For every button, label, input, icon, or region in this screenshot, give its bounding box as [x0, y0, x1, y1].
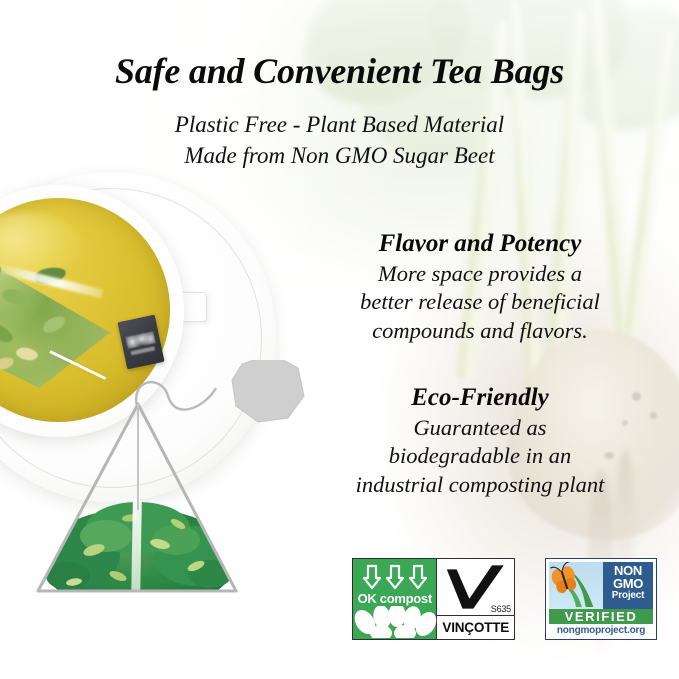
feature-eco-friendly: Eco-Friendly Guaranteed as biodegradable… [286, 384, 674, 499]
feature-body-line-2: biodegradable in an [286, 442, 674, 470]
teabag-string-illustration [136, 382, 216, 410]
feature-flavor-and-potency: Flavor and Potency More space provides a… [286, 230, 674, 345]
ok-compost-label: OK compost [358, 592, 432, 605]
ok-compost-badge: OK compost S635 VINÇ [352, 558, 515, 640]
pyramid-teabag-illustration [10, 360, 310, 670]
down-arrow-icon [363, 564, 381, 590]
poster-root: Safe and Convenient Tea Bags Plastic Fre… [0, 0, 679, 679]
tag-logo-subtext-icon [131, 346, 155, 355]
non-gmo-url: nongmoproject.org [549, 624, 653, 636]
non-gmo-top: NON GMO Project [549, 562, 653, 609]
feature-body: Guaranteed as biodegradable in an indust… [286, 414, 674, 499]
ok-compost-arrows [363, 564, 427, 590]
non-gmo-inner: NON GMO Project VERIFIED nongmoproject.o… [549, 562, 653, 636]
compost-flower-icon [353, 606, 437, 638]
poster-title: Safe and Convenient Tea Bags [0, 50, 679, 92]
feature-heading: Eco-Friendly [286, 384, 674, 412]
non-gmo-text-panel: NON GMO Project [603, 562, 653, 609]
feature-body-line-3: compounds and flavors. [286, 317, 674, 345]
down-arrow-icon [386, 564, 404, 590]
feature-body: More space provides a better release of … [286, 260, 674, 345]
non-gmo-scene [549, 562, 603, 609]
vincotte-check: S635 [437, 559, 514, 616]
feature-body-line-3: industrial composting plant [286, 471, 674, 499]
teabag-leaf-fill [40, 500, 238, 612]
feature-heading: Flavor and Potency [286, 230, 674, 258]
non-gmo-line-2: GMO [603, 577, 653, 590]
certification-badges: OK compost S635 VINÇ [352, 558, 657, 640]
feature-body-line-2: better release of beneficial [286, 288, 674, 316]
poster-subtitle: Plastic Free - Plant Based Material Made… [0, 110, 679, 171]
vincotte-panel: S635 VINÇOTTE [436, 559, 514, 639]
butterfly-grass-icon [549, 562, 603, 609]
vincotte-brand: VINÇOTTE [437, 616, 514, 639]
feature-body-line-1: More space provides a [286, 260, 674, 288]
subtitle-line-1: Plastic Free - Plant Based Material [0, 110, 679, 141]
subtitle-line-2: Made from Non GMO Sugar Beet [0, 141, 679, 172]
feature-body-line-1: Guaranteed as [286, 414, 674, 442]
vincotte-code: S635 [491, 604, 511, 614]
non-gmo-project-badge: NON GMO Project VERIFIED nongmoproject.o… [545, 558, 657, 640]
down-arrow-icon [409, 564, 427, 590]
non-gmo-verified-band: VERIFIED [549, 609, 653, 624]
non-gmo-line-3: Project [603, 591, 653, 601]
ok-compost-green-panel: OK compost [353, 559, 436, 639]
